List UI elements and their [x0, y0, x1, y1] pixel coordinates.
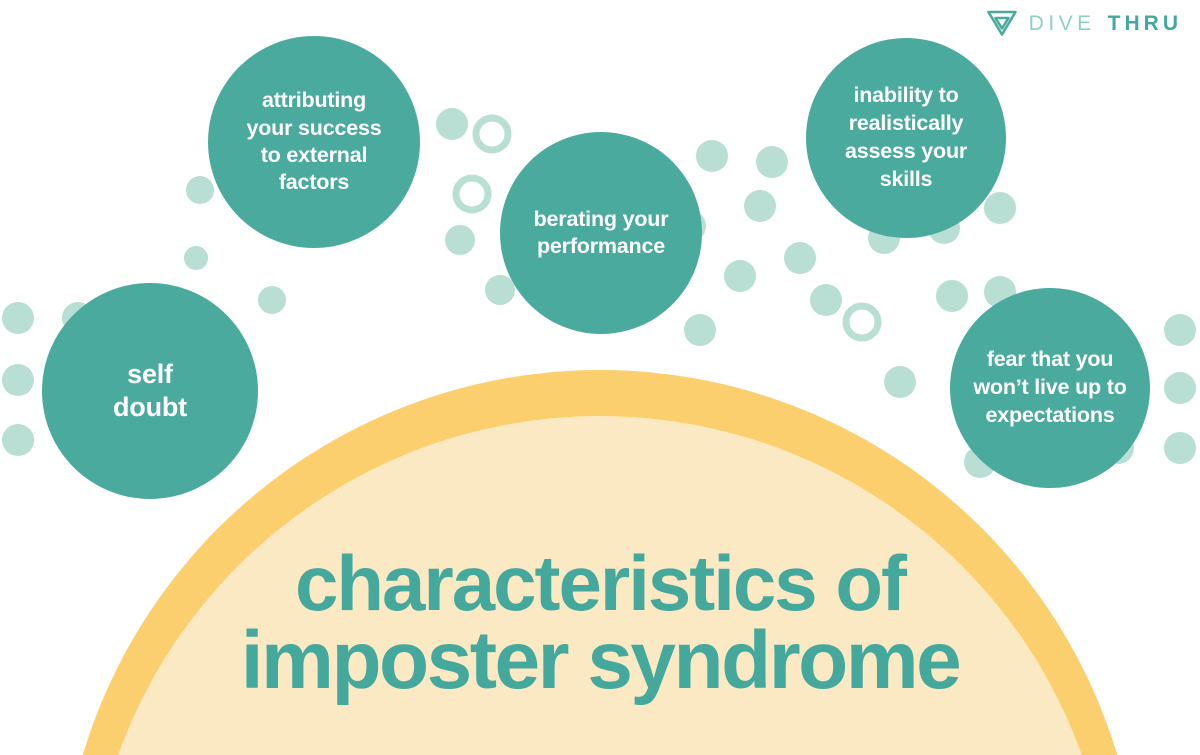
- bubble-self-doubt-label: self doubt: [103, 358, 197, 425]
- bubble-fear-expectations: fear that you won’t live up to expectati…: [950, 288, 1150, 488]
- page-title: characteristics of imposter syndrome: [0, 545, 1200, 702]
- bubble-inability-assess-skills-label: inability to realistically assess your s…: [835, 82, 977, 194]
- bubble-attributing-success: attributing your success to external fac…: [208, 36, 420, 248]
- bubble-inability-assess-skills: inability to realistically assess your s…: [806, 38, 1006, 238]
- bubble-self-doubt: self doubt: [42, 283, 258, 499]
- triangle-chevron-icon: [987, 10, 1017, 36]
- bubble-berating-performance-label: berating your performance: [524, 206, 679, 261]
- page-title-line-2: imposter syndrome: [0, 621, 1200, 701]
- infographic-canvas: DIVE THRU self doubt attributing your su…: [0, 0, 1200, 755]
- brand-logo: DIVE THRU: [987, 10, 1182, 36]
- bubble-fear-expectations-label: fear that you won’t live up to expectati…: [963, 346, 1136, 430]
- bubble-attributing-success-label: attributing your success to external fac…: [236, 87, 391, 196]
- logo-word-thru: THRU: [1108, 13, 1182, 34]
- bubble-berating-performance: berating your performance: [500, 132, 702, 334]
- logo-word-dive: DIVE: [1029, 13, 1096, 34]
- page-title-line-1: characteristics of: [0, 545, 1200, 621]
